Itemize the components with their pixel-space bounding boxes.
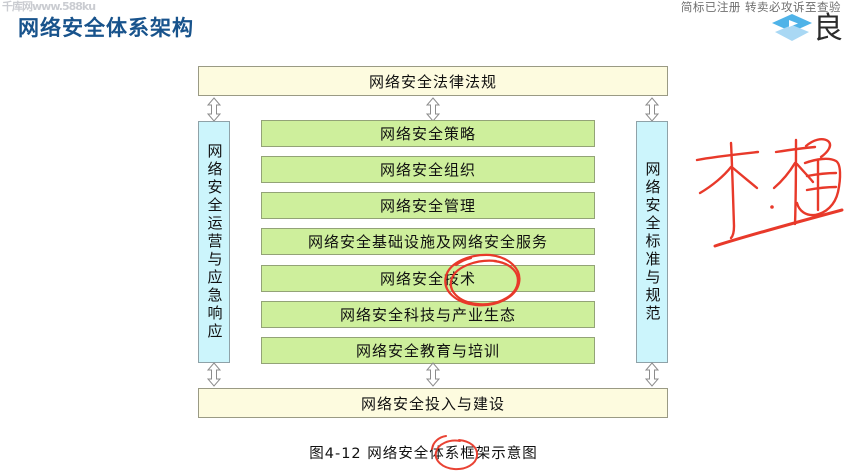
- arrow-top-left: [206, 97, 222, 122]
- diagram-left-column: 网络安全运营与应急响应: [198, 121, 230, 363]
- watermark-brand-logo: 良: [771, 7, 843, 51]
- diagram-layer-label: 网络安全教育与培训: [356, 340, 500, 361]
- diagram-layer: 网络安全基础设施及网络安全服务: [261, 228, 595, 255]
- diagram-top-bar: 网络安全法律法规: [198, 66, 668, 96]
- diagram-layer-label: 网络安全管理: [380, 195, 476, 216]
- figure-caption: 图4-12 网络安全体系框架示意图: [0, 442, 847, 463]
- arrow-bottom-center: [425, 362, 441, 387]
- diagram-layer: 网络安全技术: [261, 265, 595, 292]
- arrow-top-center: [425, 97, 441, 122]
- diagram-top-bar-label: 网络安全法律法规: [369, 71, 497, 92]
- diagram-layer-label: 网络安全组织: [380, 159, 476, 180]
- diagram-bottom-bar: 网络安全投入与建设: [198, 388, 668, 418]
- diagram-layer-label: 网络安全策略: [380, 123, 476, 144]
- security-architecture-diagram: 网络安全法律法规 网络安全运营与应急响应 网络安全标准与规范 网络安全策略 网络…: [198, 66, 668, 418]
- diagram-left-column-label: 网络安全运营与应急响应: [207, 143, 222, 341]
- ink-handwriting-mu: [697, 143, 758, 238]
- diagram-right-column-label: 网络安全标准与规范: [645, 161, 660, 323]
- diagram-layer: 网络安全科技与产业生态: [261, 301, 595, 328]
- page-title: 网络安全体系架构: [18, 12, 194, 42]
- ink-dot: [770, 205, 774, 209]
- diagram-layer-label: 网络安全科技与产业生态: [340, 304, 516, 325]
- graduation-cap-icon: [771, 12, 813, 46]
- diagram-bottom-bar-label: 网络安全投入与建设: [361, 393, 505, 414]
- arrow-bottom-right: [644, 362, 660, 387]
- diagram-layer-label: 网络安全基础设施及网络安全服务: [308, 231, 548, 252]
- diagram-layer: 网络安全管理: [261, 192, 595, 219]
- arrow-top-right: [644, 97, 660, 122]
- diagram-layer: 网络安全教育与培训: [261, 337, 595, 364]
- ink-underline: [715, 210, 842, 246]
- ink-handwriting-tong: [774, 139, 840, 224]
- diagram-layer: 网络安全组织: [261, 156, 595, 183]
- diagram-layer-label: 网络安全技术: [380, 268, 476, 289]
- diagram-layer-stack: 网络安全策略 网络安全组织 网络安全管理 网络安全基础设施及网络安全服务 网络安…: [261, 120, 595, 364]
- diagram-layer: 网络安全策略: [261, 120, 595, 147]
- arrow-bottom-left: [206, 362, 222, 387]
- diagram-right-column: 网络安全标准与规范: [636, 121, 668, 363]
- watermark-brand-name: 良: [813, 14, 843, 44]
